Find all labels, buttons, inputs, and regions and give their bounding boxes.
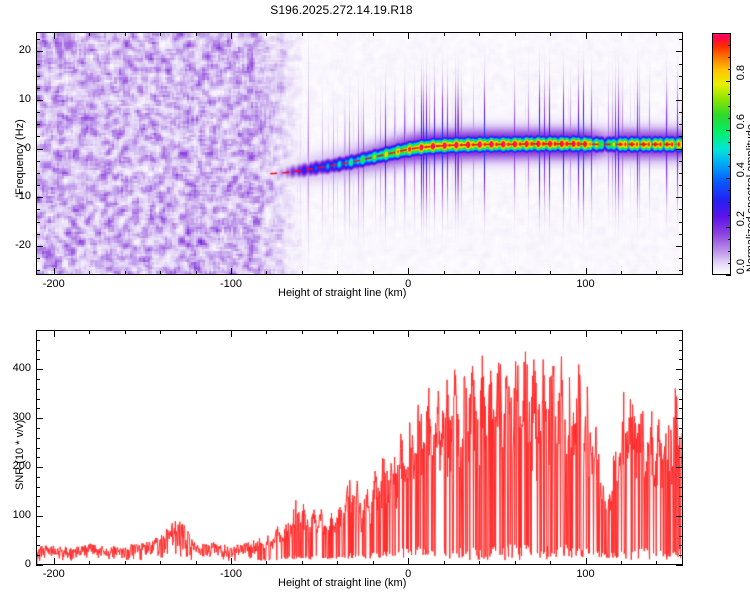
ytick-minor-right [679,270,683,271]
xtick-minor-top [125,330,126,334]
ytick-minor [36,545,40,546]
ytick-major-right [676,516,683,517]
xtick-major [54,268,55,275]
ytick-minor-right [679,496,683,497]
ytick-minor-right [679,234,683,235]
snr-canvas [37,331,682,564]
xtick-label: 100 [570,568,602,580]
ytick-minor [36,161,40,162]
ytick-minor [36,555,40,556]
ytick-minor-right [679,526,683,527]
xtick-minor-top [160,32,161,36]
xtick-label: -200 [38,278,70,290]
ytick-minor-right [679,340,683,341]
xtick-minor [621,561,622,565]
colorbar-tick [726,178,731,179]
ytick-minor-right [679,64,683,65]
ytick-major-right [676,197,683,198]
ytick-minor [36,64,40,65]
ytick-major-right [676,565,683,566]
ytick-major [36,149,43,150]
ytick-minor [36,359,40,360]
ytick-minor [36,209,40,210]
ytick-major-right [676,51,683,52]
ytick-minor [36,39,40,40]
xtick-major-top [231,330,232,337]
ytick-minor [36,487,40,488]
ytick-major [36,51,43,52]
ytick-minor [36,330,40,331]
ytick-major-right [676,149,683,150]
ytick-major-right [676,100,683,101]
ytick-minor [36,379,40,380]
colorbar-tick [726,227,731,228]
xtick-minor [373,271,374,275]
xtick-minor-top [621,32,622,36]
xtick-minor [337,271,338,275]
xtick-minor [125,561,126,565]
ytick-minor [36,389,40,390]
ytick-major [36,246,43,247]
ytick-minor [36,448,40,449]
xtick-major-top [408,32,409,39]
ytick-minor [36,399,40,400]
colorbar-tick-minor [728,57,731,58]
xtick-minor [302,271,303,275]
ytick-minor [36,428,40,429]
xtick-minor-top [337,32,338,36]
colorbar-tick [726,130,731,131]
xtick-minor-top [444,32,445,36]
xtick-major-top [586,32,587,39]
ytick-minor [36,438,40,439]
xtick-minor [302,561,303,565]
ytick-minor-right [679,555,683,556]
xtick-major-top [231,32,232,39]
xtick-minor-top [125,32,126,36]
xtick-major [586,558,587,565]
xtick-label: -200 [38,568,70,580]
ytick-minor-right [679,477,683,478]
ytick-minor-right [679,448,683,449]
ytick-label: -20 [6,239,31,251]
ytick-minor [36,408,40,409]
colorbar-tick-minor [728,251,731,252]
xtick-minor-top [656,330,657,334]
xtick-major [408,558,409,565]
ytick-minor [36,536,40,537]
xtick-minor-top [479,330,480,334]
ytick-minor-right [679,161,683,162]
ytick-minor [36,350,40,351]
ytick-minor [36,457,40,458]
xtick-minor-top [266,32,267,36]
xtick-minor-top [515,32,516,36]
xtick-minor-top [196,330,197,334]
ytick-label: 400 [6,362,31,374]
xtick-label: -100 [215,278,247,290]
ytick-minor [36,124,40,125]
ytick-minor-right [679,399,683,400]
spectrogram-xlabel: Height of straight line (km) [278,287,406,299]
ytick-minor-right [679,457,683,458]
xtick-minor [266,271,267,275]
ytick-minor [36,496,40,497]
ytick-label: 100 [6,509,31,521]
ytick-minor-right [679,379,683,380]
ytick-minor-right [679,536,683,537]
ytick-minor-right [679,136,683,137]
xtick-major-top [408,330,409,337]
xtick-major [231,558,232,565]
xtick-minor [444,271,445,275]
ytick-major-right [676,467,683,468]
xtick-minor [89,561,90,565]
spectrogram-panel [36,32,683,275]
snr-panel [36,330,683,565]
colorbar-tick-minor [728,69,731,70]
ytick-minor-right [679,88,683,89]
xtick-minor [479,271,480,275]
ytick-minor [36,222,40,223]
ytick-minor-right [679,185,683,186]
xtick-minor [550,271,551,275]
xtick-minor-top [550,330,551,334]
ytick-minor-right [679,545,683,546]
ytick-minor-right [679,258,683,259]
xtick-minor [125,271,126,275]
xtick-minor [196,271,197,275]
spectrogram-ylabel: Frequency (Hz) [14,119,26,195]
xtick-minor [479,561,480,565]
xtick-minor [89,271,90,275]
ytick-label: 20 [6,44,31,56]
ytick-minor-right [679,76,683,77]
colorbar-tick-minor [728,190,731,191]
xtick-minor [160,561,161,565]
colorbar-tick-minor [728,239,731,240]
ytick-minor-right [679,428,683,429]
colorbar-tick-minor [728,106,731,107]
ytick-minor [36,76,40,77]
ytick-major-right [676,369,683,370]
xtick-major-top [586,330,587,337]
spectrogram-canvas [37,33,682,274]
ytick-major [36,100,43,101]
ytick-major [36,369,43,370]
ytick-minor [36,185,40,186]
ytick-minor [36,258,40,259]
xtick-minor [196,561,197,565]
ytick-major [36,418,43,419]
xtick-minor-top [621,330,622,334]
ytick-minor [36,340,40,341]
xtick-minor-top [302,330,303,334]
ytick-minor-right [679,389,683,390]
ytick-minor-right [679,438,683,439]
xtick-major-top [54,32,55,39]
colorbar-tick-minor [728,142,731,143]
ytick-minor [36,234,40,235]
xtick-major [54,558,55,565]
snr-xlabel: Height of straight line (km) [278,577,406,589]
xtick-minor-top [89,330,90,334]
ytick-minor-right [679,506,683,507]
colorbar-tick-minor [728,118,731,119]
xtick-minor [515,271,516,275]
ytick-minor-right [679,359,683,360]
colorbar-tick-minor [728,94,731,95]
colorbar-tick-minor [728,263,731,264]
ytick-minor-right [679,112,683,113]
ytick-minor [36,173,40,174]
xtick-minor [373,561,374,565]
xtick-minor-top [266,330,267,334]
colorbar-label: Normalized spectral amplitude [745,124,750,272]
snr-ylabel: SNR (10 * v/v) [14,420,26,490]
figure-title: S196.2025.272.14.19.R18 [0,3,683,17]
xtick-minor [515,561,516,565]
xtick-minor-top [160,330,161,334]
ytick-minor-right [679,222,683,223]
xtick-minor [656,271,657,275]
colorbar-tick-minor [728,215,731,216]
colorbar-tick-minor [728,202,731,203]
colorbar-tick [726,275,731,276]
ytick-major [36,467,43,468]
colorbar-tick-minor [728,154,731,155]
ytick-major-right [676,246,683,247]
ytick-minor [36,112,40,113]
xtick-minor [160,271,161,275]
xtick-minor-top [373,330,374,334]
ytick-label: 10 [6,93,31,105]
xtick-minor-top [302,32,303,36]
ytick-minor-right [679,330,683,331]
xtick-minor [444,561,445,565]
ytick-minor-right [679,39,683,40]
xtick-minor-top [444,330,445,334]
ytick-minor [36,506,40,507]
xtick-minor [550,561,551,565]
ytick-major [36,565,43,566]
ytick-minor-right [679,124,683,125]
xtick-minor-top [479,32,480,36]
colorbar-tick-label: 0.8 [735,65,747,80]
xtick-label: -100 [215,568,247,580]
xtick-minor-top [196,32,197,36]
ytick-minor [36,477,40,478]
xtick-minor-top [373,32,374,36]
xtick-label: 100 [570,278,602,290]
ytick-minor-right [679,408,683,409]
xtick-minor-top [515,330,516,334]
xtick-minor [337,561,338,565]
ytick-minor-right [679,350,683,351]
figure-root: S196.2025.272.14.19.R18 -200-10001002010… [0,0,750,600]
ytick-minor [36,270,40,271]
xtick-minor-top [337,330,338,334]
ytick-label: 0 [6,558,31,570]
colorbar-tick-minor [728,45,731,46]
ytick-major [36,516,43,517]
ytick-major [36,197,43,198]
ytick-minor-right [679,173,683,174]
ytick-minor [36,88,40,89]
xtick-major [408,268,409,275]
xtick-minor [266,561,267,565]
xtick-minor [656,561,657,565]
ytick-major-right [676,418,683,419]
colorbar-tick-minor [728,166,731,167]
xtick-minor-top [89,32,90,36]
xtick-major [586,268,587,275]
ytick-minor-right [679,209,683,210]
ytick-minor-right [679,487,683,488]
colorbar-tick [726,81,731,82]
xtick-minor-top [656,32,657,36]
xtick-major [231,268,232,275]
xtick-minor [621,271,622,275]
ytick-minor [36,136,40,137]
xtick-major-top [54,330,55,337]
ytick-minor [36,526,40,527]
xtick-minor-top [550,32,551,36]
